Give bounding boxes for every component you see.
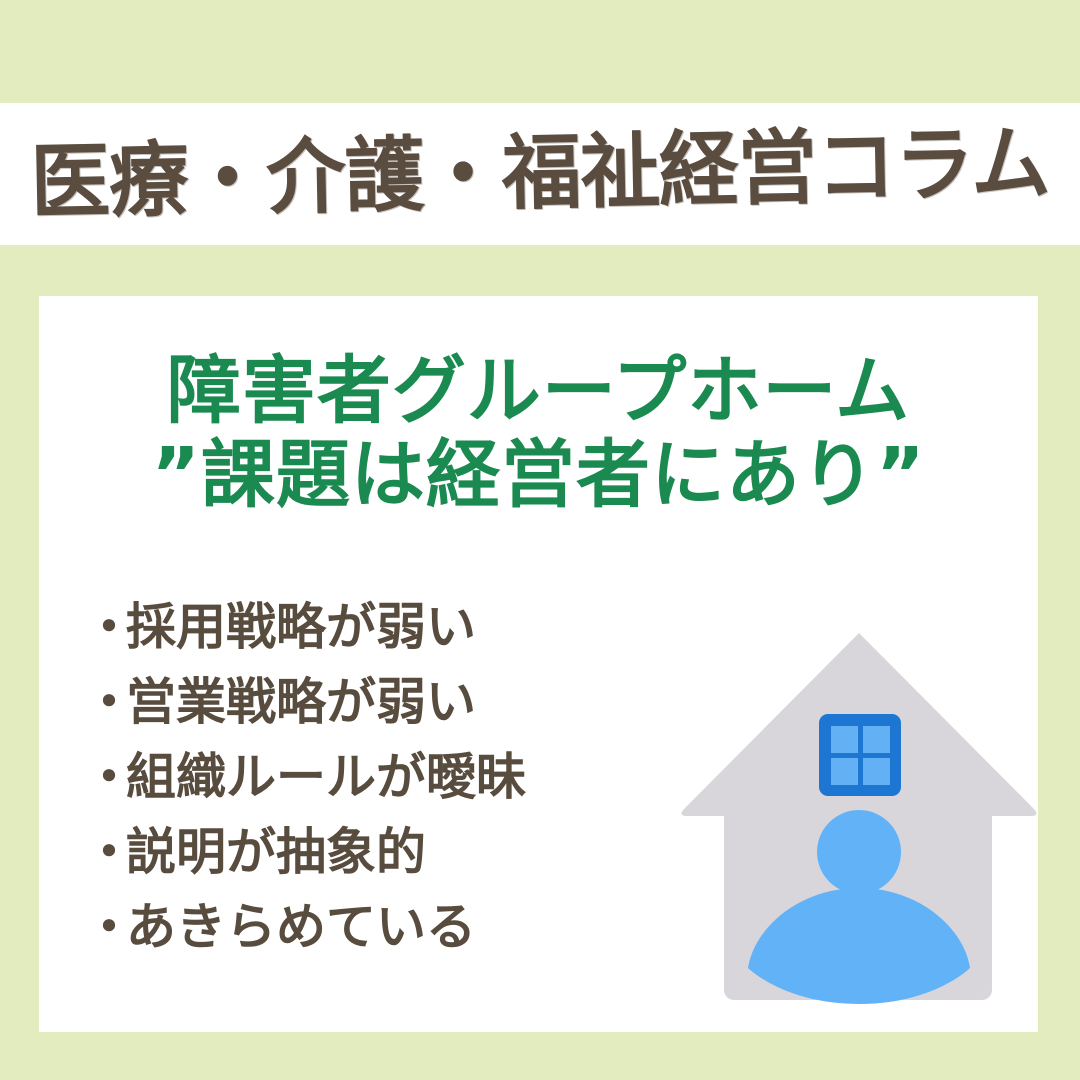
- bullet-dot-icon: ・: [84, 902, 126, 952]
- poster-canvas: 医療・介護・福祉経営コラム 障害者グループホーム ”課題は経営者にあり” ・ 採…: [0, 0, 1080, 1080]
- list-item: ・ 説明が抽象的: [84, 827, 644, 902]
- window-pane-top-right: [863, 726, 890, 753]
- person-head-shape: [817, 810, 901, 894]
- headline-line-1: 障害者グループホーム: [39, 352, 1038, 430]
- page-title: 医療・介護・福祉経営コラム: [15, 103, 1065, 245]
- list-item: ・ 組織ルールが曖昧: [84, 752, 644, 827]
- bullet-dot-icon: ・: [84, 827, 126, 877]
- bullet-list: ・ 採用戦略が弱い ・ 営業戦略が弱い ・ 組織ルールが曖昧 ・ 説明が抽象的 …: [84, 602, 644, 977]
- header-band: 医療・介護・福祉経営コラム: [0, 103, 1080, 245]
- list-item: ・ あきらめている: [84, 902, 644, 977]
- content-card: 障害者グループホーム ”課題は経営者にあり” ・ 採用戦略が弱い ・ 営業戦略が…: [39, 296, 1038, 1032]
- list-item-label: 説明が抽象的: [126, 827, 426, 877]
- list-item-label: 採用戦略が弱い: [126, 602, 476, 652]
- bullet-dot-icon: ・: [84, 677, 126, 727]
- list-item-label: 営業戦略が弱い: [126, 677, 476, 727]
- bullet-dot-icon: ・: [84, 602, 126, 652]
- list-item-label: あきらめている: [126, 902, 476, 952]
- headline-block: 障害者グループホーム ”課題は経営者にあり”: [39, 352, 1038, 515]
- headline-line-2: ”課題は経営者にあり”: [39, 436, 1038, 514]
- house-illustration-svg: [634, 616, 1038, 1032]
- list-item: ・ 営業戦略が弱い: [84, 677, 644, 752]
- list-item-label: 組織ルールが曖昧: [126, 752, 526, 802]
- house-with-person-icon: [634, 616, 1038, 1032]
- window-pane-bottom-left: [831, 758, 858, 785]
- window-pane-bottom-right: [863, 758, 890, 785]
- bullet-dot-icon: ・: [84, 752, 126, 802]
- list-item: ・ 採用戦略が弱い: [84, 602, 644, 677]
- window-pane-top-left: [831, 726, 858, 753]
